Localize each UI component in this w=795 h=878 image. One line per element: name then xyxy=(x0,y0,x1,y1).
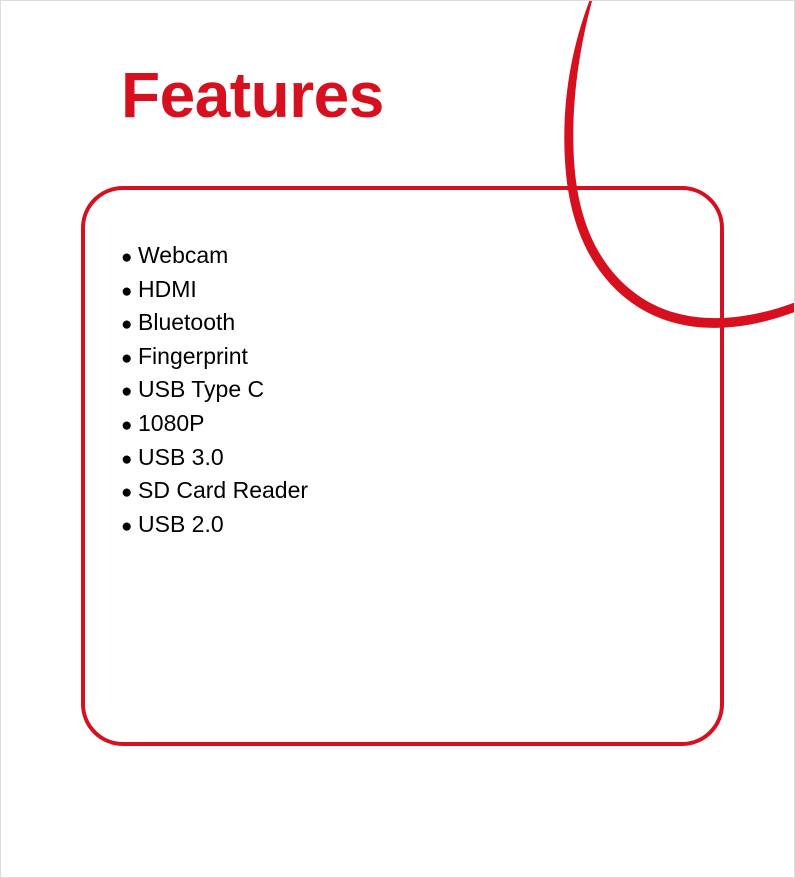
list-item-label: Fingerprint xyxy=(138,343,248,369)
list-item-label: 1080P xyxy=(138,410,205,436)
bullet-icon: ● xyxy=(121,377,138,408)
features-list: ●Webcam ●HDMI ●Bluetooth ●Fingerprint ●U… xyxy=(121,240,308,542)
list-item: ●USB Type C xyxy=(121,374,308,408)
list-item: ●SD Card Reader xyxy=(121,475,308,509)
bullet-icon: ● xyxy=(121,310,138,341)
features-box: ●Webcam ●HDMI ●Bluetooth ●Fingerprint ●U… xyxy=(81,186,724,746)
list-item: ●Fingerprint xyxy=(121,341,308,375)
list-item-label: Bluetooth xyxy=(138,309,235,335)
features-slide: Features ●Webcam ●HDMI ●Bluetooth ●Finge… xyxy=(0,0,795,878)
page-title: Features xyxy=(121,59,384,131)
list-item-label: USB 2.0 xyxy=(138,511,224,537)
list-item: ●USB 2.0 xyxy=(121,509,308,543)
list-item-label: SD Card Reader xyxy=(138,477,308,503)
bullet-icon: ● xyxy=(121,344,138,375)
list-item: ●1080P xyxy=(121,408,308,442)
list-item-label: HDMI xyxy=(138,276,197,302)
bullet-icon: ● xyxy=(121,445,138,476)
bullet-icon: ● xyxy=(121,243,138,274)
list-item-label: USB Type C xyxy=(138,376,264,402)
list-item: ●Bluetooth xyxy=(121,307,308,341)
list-item-label: Webcam xyxy=(138,242,228,268)
list-item: ●USB 3.0 xyxy=(121,442,308,476)
bullet-icon: ● xyxy=(121,277,138,308)
bullet-icon: ● xyxy=(121,478,138,509)
list-item: ●Webcam xyxy=(121,240,308,274)
list-item-label: USB 3.0 xyxy=(138,444,224,470)
bullet-icon: ● xyxy=(121,512,138,543)
list-item: ●HDMI xyxy=(121,274,308,308)
bullet-icon: ● xyxy=(121,411,138,442)
